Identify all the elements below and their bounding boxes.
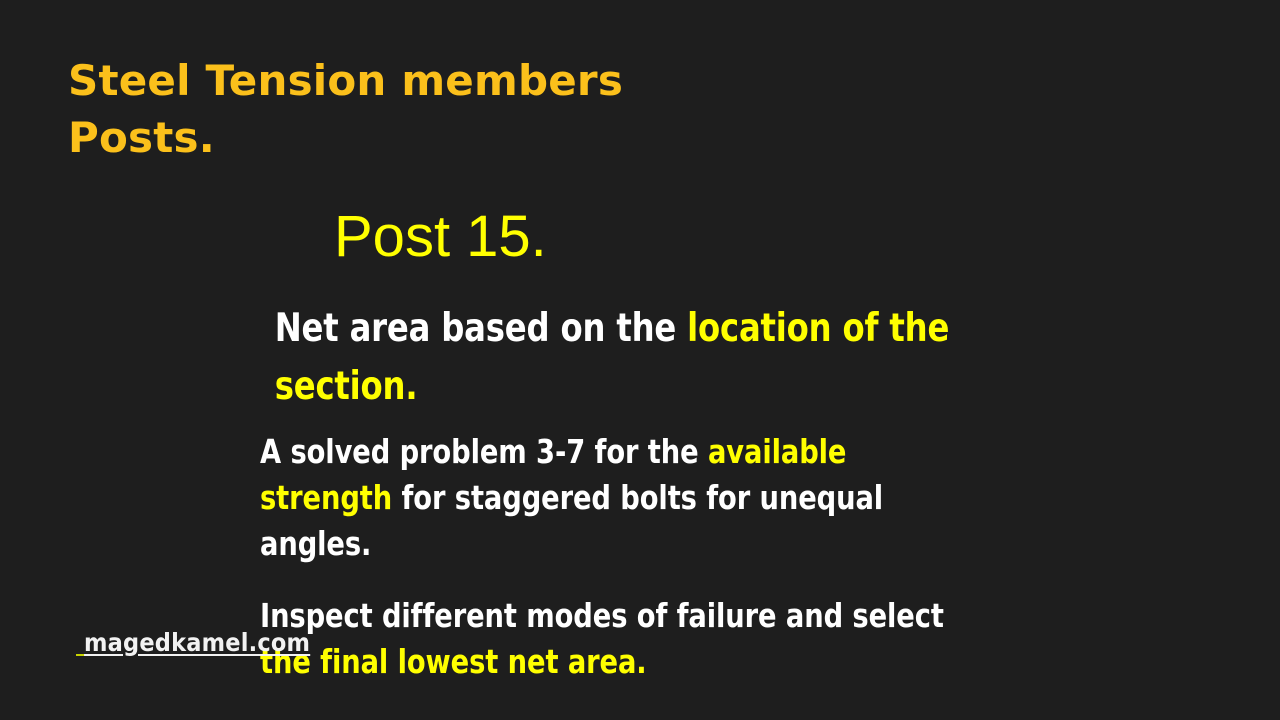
lead-statement: Net area based on the location of the se… — [260, 300, 987, 415]
footer-watermark[interactable]: magedkamel.com — [76, 628, 310, 658]
paragraph-2-plain-1: Inspect different modes of failure and s… — [260, 596, 944, 635]
slide-body: Net area based on the location of the se… — [260, 300, 1050, 684]
paragraph-modes-of-failure: Inspect different modes of failure and s… — [260, 593, 987, 684]
lead-plain-text: Net area based on the — [275, 306, 687, 351]
paragraph-solved-problem: A solved problem 3-7 for the available s… — [260, 429, 987, 566]
paragraph-2-highlight: the final lowest net area. — [260, 642, 647, 681]
slide-title: Steel Tension members Posts. — [68, 52, 768, 166]
footer-lead-mark — [76, 628, 84, 657]
presentation-slide: Steel Tension members Posts. Post 15. Ne… — [0, 0, 1280, 720]
footer-site-link[interactable]: magedkamel.com — [84, 628, 310, 657]
paragraph-1-plain-1: A solved problem 3-7 for the — [260, 432, 708, 471]
post-number-heading: Post 15. — [334, 205, 547, 269]
